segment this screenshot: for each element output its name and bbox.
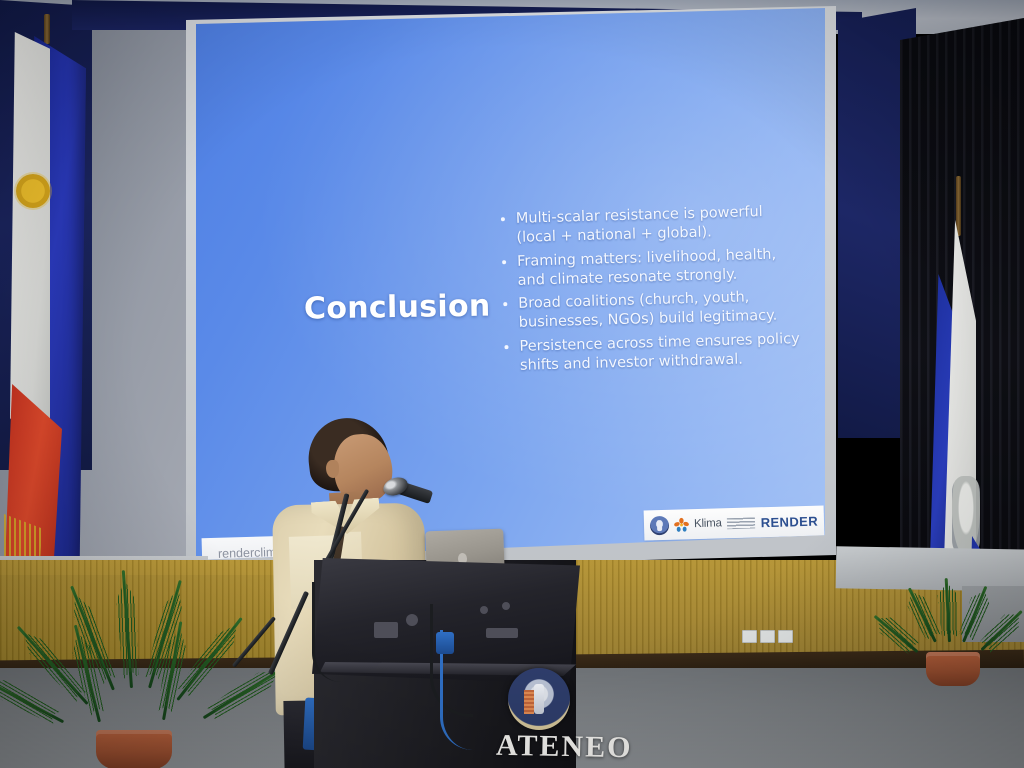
wall-outlet-plate [760, 630, 775, 643]
potted-palm-right [890, 578, 1020, 698]
terracotta-pot [926, 652, 980, 686]
potted-palm-left [30, 570, 260, 768]
monitor-port-panel [374, 622, 398, 638]
flag-pole [44, 14, 50, 44]
render-label: RENDER [760, 513, 818, 530]
podium-wordmark: ATENEO [496, 729, 637, 765]
slide-logo-bar: Klima RENDER [644, 505, 825, 540]
ear [326, 460, 339, 478]
mic-cable [312, 582, 341, 682]
flag-sun-emblem [16, 174, 50, 208]
list-item: Multi-scalar resistance is powerful (loc… [516, 202, 807, 248]
terracotta-pot [96, 730, 172, 768]
presentation-photo: Conclusion Multi-scalar resistance is po… [0, 0, 1024, 768]
list-item: Broad coalitions (church, youth, busines… [518, 287, 809, 333]
monitor-indicator [502, 602, 510, 610]
monitor-indicator [480, 606, 488, 614]
flag-pole [956, 176, 961, 236]
philippine-flag [4, 14, 90, 574]
slide-title: Conclusion [304, 289, 491, 327]
wall-outlet-plate [778, 630, 793, 643]
podium-seal-icon [508, 668, 570, 730]
list-item: Framing matters: livelihood, health, and… [517, 244, 808, 290]
ateneo-seal-icon [650, 515, 670, 535]
monitor-label-plate [486, 628, 518, 638]
klima-label: Klima [694, 517, 722, 530]
klima-subtitle-lines [727, 517, 755, 529]
slide-bullet-list: Multi-scalar resistance is powerful (loc… [500, 202, 811, 381]
klima-flower-icon [673, 516, 690, 533]
monitor-button[interactable] [406, 614, 418, 626]
seal-pillar [524, 690, 534, 714]
wall-outlet-plate [742, 630, 757, 643]
vga-connector [436, 632, 454, 654]
list-item: Persistence across time ensures policy s… [519, 330, 810, 376]
